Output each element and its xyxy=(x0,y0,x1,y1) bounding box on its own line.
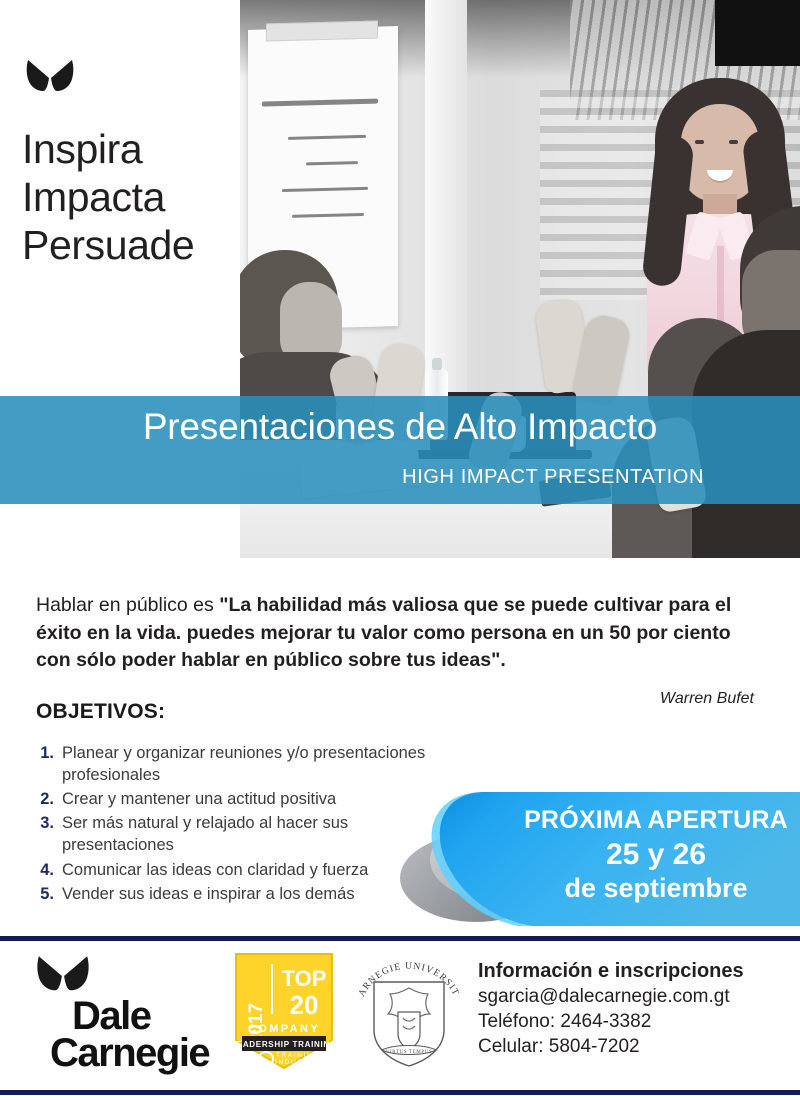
objectives-list: 1. Planear y organizar reuniones y/o pre… xyxy=(28,742,428,907)
contact-mobile: Celular: 5804-7202 xyxy=(478,1034,794,1059)
list-item: 3. Ser más natural y relajado al hacer s… xyxy=(28,812,428,856)
banner-subtitle: HIGH IMPACT PRESENTATION xyxy=(402,466,704,489)
badge-source-line-2: INDUSTRY xyxy=(275,1059,321,1066)
list-item: 4. Comunicar las ideas con claridad y fu… xyxy=(28,859,428,881)
list-item-label: Planear y organizar reuniones y/o presen… xyxy=(62,742,428,786)
contact-block: Información e inscripciones sgarcia@dale… xyxy=(478,958,794,1059)
list-item-label: Crear y mantener una actitud positiva xyxy=(62,788,336,810)
seal-ribbon-text: VIRTUS TEMPUS xyxy=(386,1050,432,1055)
dale-carnegie-bowtie-icon xyxy=(36,954,90,998)
quote-author: Warren Bufet xyxy=(660,690,754,708)
contact-phone: Teléfono: 2464-3382 xyxy=(478,1009,794,1034)
list-item-number: 3. xyxy=(28,812,62,834)
dale-carnegie-logo: Dale Carnegie xyxy=(28,954,228,1066)
opening-date-callout: PRÓXIMA APERTURA 25 y 26 de septiembre xyxy=(398,786,800,932)
dale-carnegie-wordmark: Dale Carnegie xyxy=(72,998,209,1072)
hero-section: Inspira Impacta Persuade Presentaciones … xyxy=(0,0,800,558)
badge-category: LEADERSHIP TRAINING xyxy=(232,1040,336,1049)
contact-email[interactable]: sgarcia@dalecarnegie.com.gt xyxy=(478,984,794,1009)
title-banner: Presentaciones de Alto Impacto HIGH IMPA… xyxy=(0,396,800,504)
dale-carnegie-bowtie-icon xyxy=(26,58,74,98)
quote-block: Hablar en público es "La habilidad más v… xyxy=(36,592,766,675)
list-item-number: 5. xyxy=(28,883,62,905)
tagline: Inspira Impacta Persuade xyxy=(22,126,194,270)
list-item-number: 4. xyxy=(28,859,62,881)
objectives-title: OBJETIVOS: xyxy=(36,700,165,724)
footer-divider-bottom xyxy=(0,1090,800,1095)
badge-company: COMPANY xyxy=(248,1023,320,1035)
tagline-line-2: Impacta xyxy=(22,174,194,222)
list-item-label: Vender sus ideas e inspirar a los demás xyxy=(62,883,355,905)
callout-line-2: 25 y 26 xyxy=(520,837,792,873)
tagline-line-3: Persuade xyxy=(22,222,194,270)
list-item: 2. Crear y mantener una actitud positiva xyxy=(28,788,428,810)
wordmark-line-2: Carnegie xyxy=(50,1035,209,1072)
badge-top: TOP xyxy=(282,966,327,991)
tagline-line-1: Inspira xyxy=(22,126,194,174)
list-item-label: Ser más natural y relajado al hacer sus … xyxy=(62,812,428,856)
banner-title: Presentaciones de Alto Impacto xyxy=(0,406,800,448)
badge-rank: 20 xyxy=(290,990,319,1020)
callout-text: PRÓXIMA APERTURA 25 y 26 de septiembre xyxy=(520,806,792,904)
list-item-label: Comunicar las ideas con claridad y fuerz… xyxy=(62,859,368,881)
badge-source-line-1: TRAINING xyxy=(276,1052,320,1059)
quote-lead: Hablar en público es xyxy=(36,594,219,616)
list-item: 5. Vender sus ideas e inspirar a los dem… xyxy=(28,883,428,905)
callout-line-1: PRÓXIMA APERTURA xyxy=(520,806,792,835)
carnegie-university-seal: CARNEGIE UNIVERSITY VIRTUS TEMPUS xyxy=(350,952,468,1072)
list-item: 1. Planear y organizar reuniones y/o pre… xyxy=(28,742,428,786)
list-item-number: 2. xyxy=(28,788,62,810)
footer: Dale Carnegie 2017 TOP 20 COMPANY LEADER… xyxy=(0,946,800,1086)
callout-line-3: de septiembre xyxy=(520,873,792,905)
wordmark-line-1: Dale xyxy=(72,998,209,1035)
top20-award-badge: 2017 TOP 20 COMPANY LEADERSHIP TRAINING … xyxy=(232,952,336,1070)
list-item-number: 1. xyxy=(28,742,62,764)
footer-divider-top xyxy=(0,936,800,941)
contact-title: Información e inscripciones xyxy=(478,958,794,984)
